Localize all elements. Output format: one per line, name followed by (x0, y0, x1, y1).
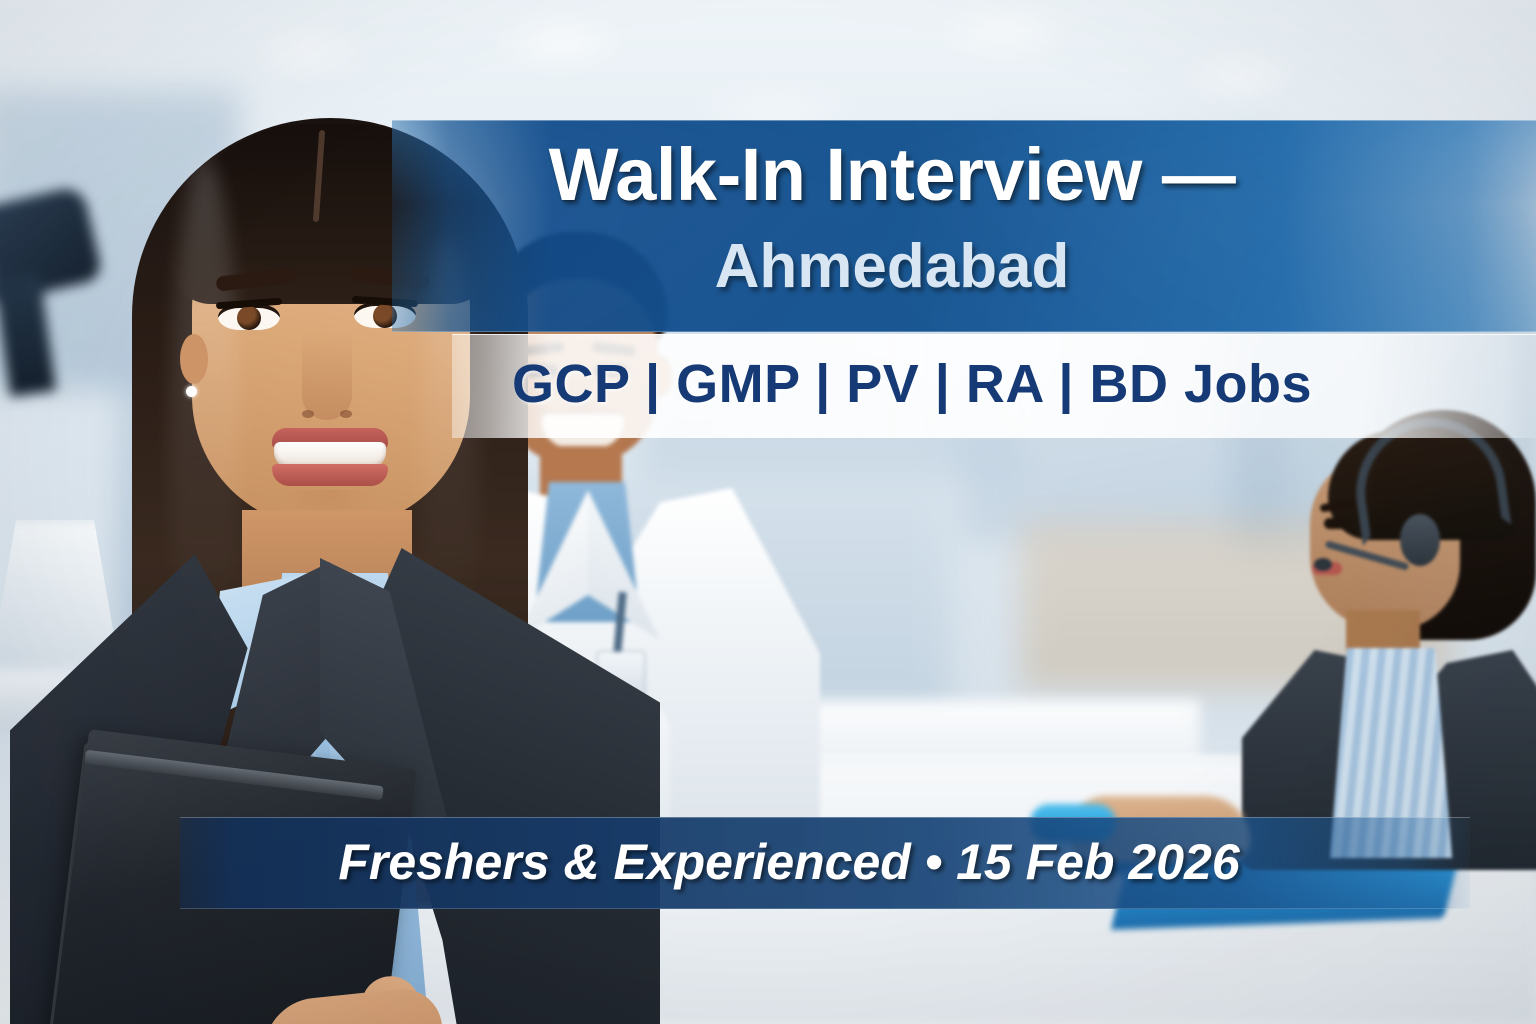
woman-nostril-left (302, 410, 314, 418)
woman-ear (180, 334, 208, 384)
ceiling-light (250, 34, 370, 70)
headset-earcup-icon (1400, 514, 1440, 566)
woman-lower-lip (272, 464, 388, 486)
ceiling-light (490, 18, 630, 64)
banner-footer-text: Freshers & Experienced • 15 Feb 2026 (180, 830, 1398, 895)
ceiling-light (1180, 60, 1300, 94)
ceiling-light (930, 10, 1080, 50)
woman-nostril-right (340, 410, 352, 418)
woman-iris-left (237, 306, 261, 330)
banner-subtitle: GCP | GMP | PV | RA | BD Jobs (452, 351, 1372, 419)
banner-title-line-2: Ahmedabad (392, 234, 1392, 299)
woman-earring (186, 386, 197, 397)
woman-nose (302, 332, 352, 420)
agent-eye (1324, 518, 1350, 529)
headset-agent (1250, 410, 1536, 850)
banner-canvas: Walk-In Interview — Ahmedabad GCP | GMP … (0, 0, 1536, 1024)
headset-microphone-icon (1314, 558, 1332, 571)
banner-title-line-1: Walk-In Interview — (392, 136, 1392, 214)
